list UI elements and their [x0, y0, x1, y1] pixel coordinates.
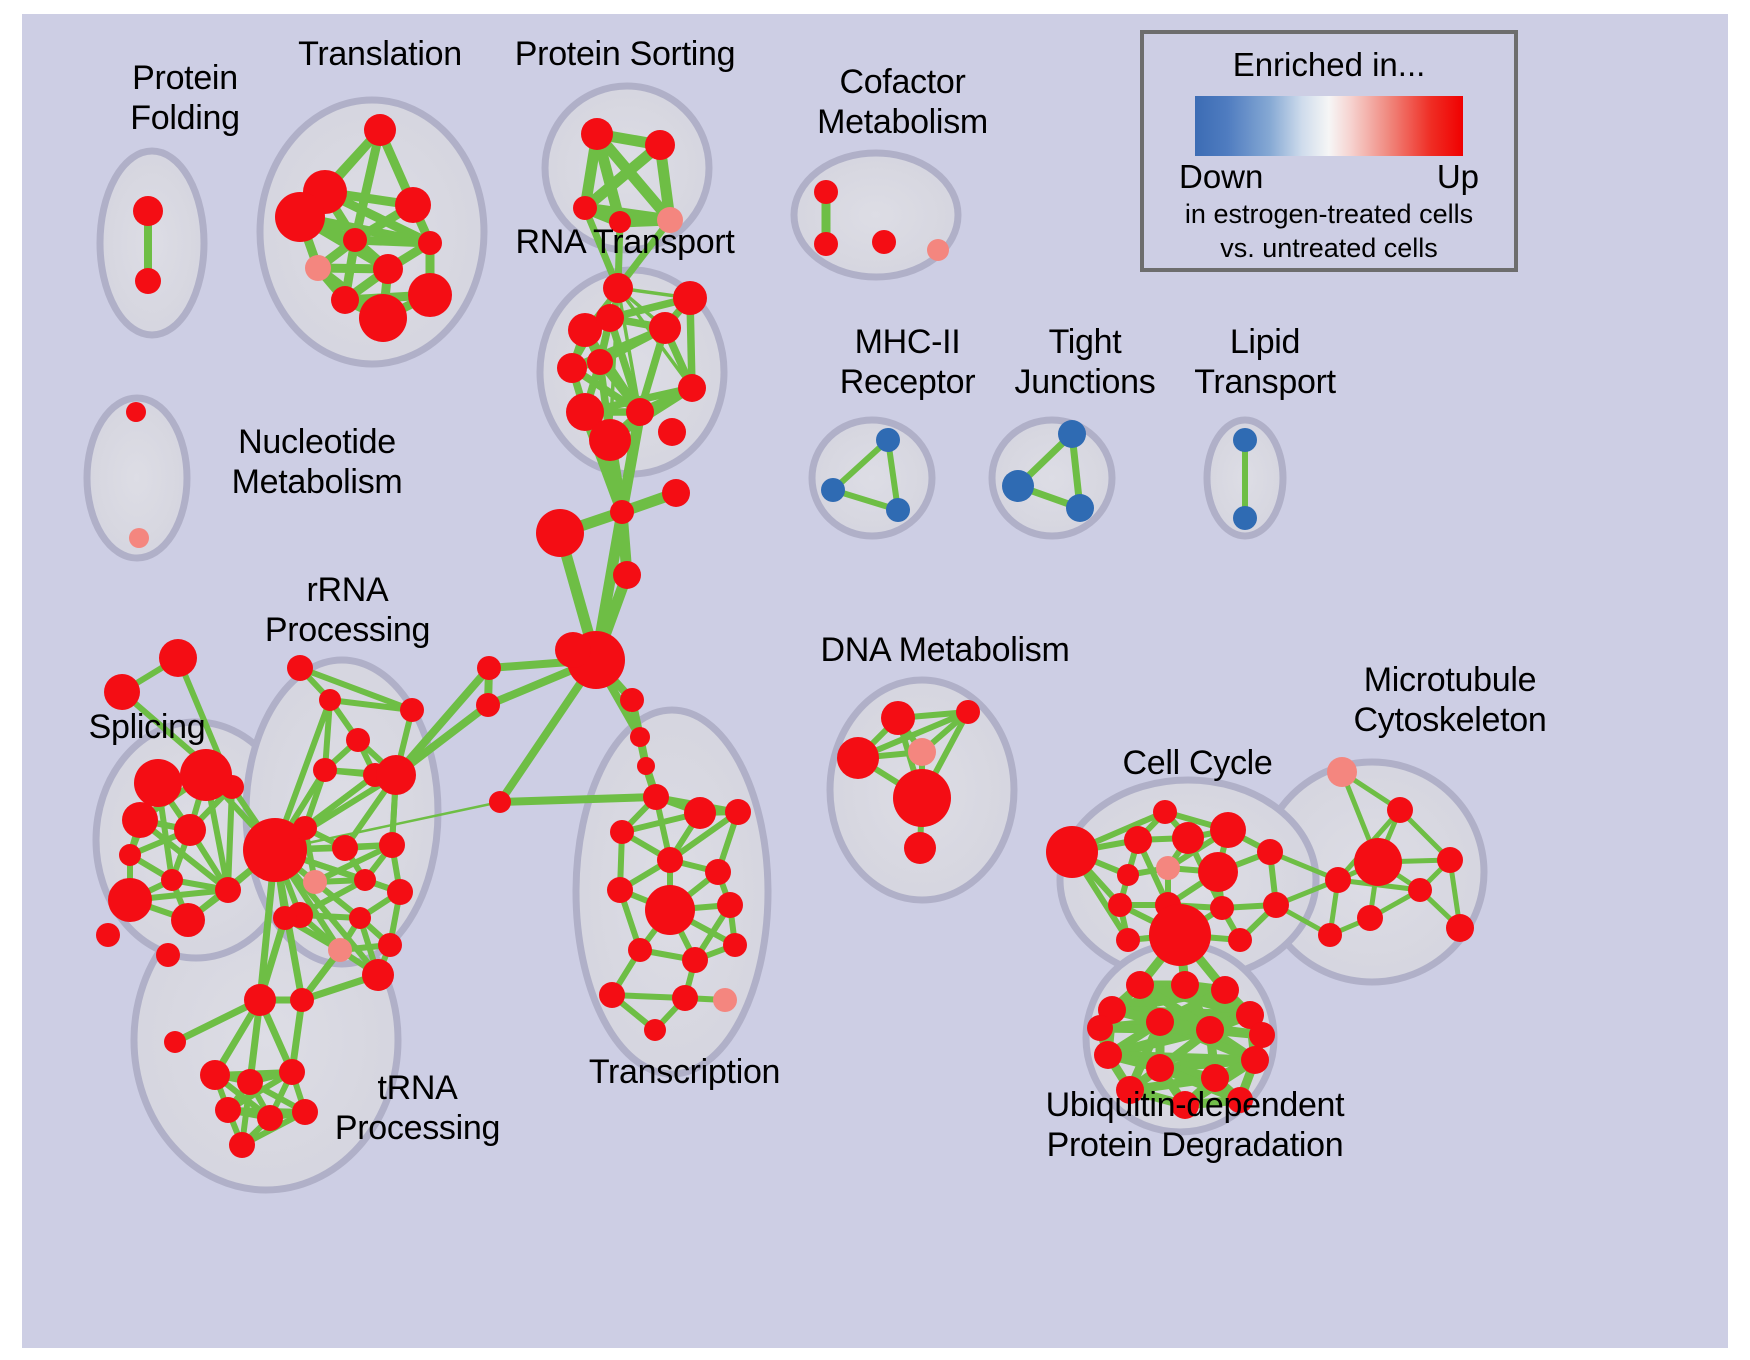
node	[373, 254, 403, 284]
node	[613, 561, 641, 589]
node	[279, 1059, 305, 1085]
node	[104, 674, 140, 710]
node	[1446, 914, 1474, 942]
node	[1357, 905, 1383, 931]
node	[1249, 1022, 1275, 1048]
node	[1233, 506, 1257, 530]
node	[1117, 864, 1139, 886]
legend-color-gradient-bar	[1195, 96, 1463, 156]
node	[1263, 892, 1289, 918]
node	[273, 906, 297, 930]
node	[418, 231, 442, 255]
node	[200, 1060, 230, 1090]
node	[610, 500, 634, 524]
node	[1094, 1041, 1122, 1069]
node	[215, 1097, 241, 1123]
node	[1210, 896, 1234, 920]
node	[581, 118, 613, 150]
node	[275, 192, 325, 242]
node	[244, 984, 276, 1016]
node	[645, 130, 675, 160]
node	[171, 903, 205, 937]
node	[609, 211, 631, 233]
node	[1046, 826, 1098, 878]
node	[657, 847, 683, 873]
node	[927, 239, 949, 261]
node	[672, 985, 698, 1011]
legend-subtitle-line1: in estrogen-treated cells	[1144, 198, 1514, 230]
node	[237, 1069, 263, 1095]
node	[713, 988, 737, 1012]
node	[257, 1105, 283, 1131]
node	[379, 832, 405, 858]
node	[1227, 1087, 1253, 1113]
node	[293, 816, 317, 840]
node	[557, 353, 587, 383]
node	[364, 114, 396, 146]
node	[215, 877, 241, 903]
node	[349, 907, 371, 929]
node	[362, 959, 394, 991]
node	[134, 759, 182, 807]
node	[705, 859, 731, 885]
node	[682, 947, 708, 973]
legend-box: Enriched in... Down Up in estrogen-treat…	[1140, 30, 1518, 272]
node	[596, 304, 624, 332]
node	[328, 938, 352, 962]
node	[319, 689, 341, 711]
node	[1002, 470, 1034, 502]
node	[331, 286, 359, 314]
node	[378, 933, 402, 957]
node	[662, 479, 690, 507]
node	[872, 230, 896, 254]
node	[292, 1099, 318, 1125]
node	[303, 870, 327, 894]
node	[1108, 893, 1132, 917]
node	[821, 478, 845, 502]
node	[626, 398, 654, 426]
node	[645, 885, 695, 935]
legend-subtitle-line2: vs. untreated cells	[1144, 232, 1514, 264]
node	[1116, 928, 1140, 952]
legend-high-label: Up	[1437, 158, 1479, 196]
node	[1196, 1016, 1224, 1044]
ellipse-mhc-ii-receptor	[812, 420, 932, 536]
node	[126, 402, 146, 422]
node	[628, 938, 652, 962]
node	[1156, 856, 1180, 880]
node	[161, 869, 183, 891]
node	[400, 698, 424, 722]
node	[1124, 826, 1152, 854]
node	[1171, 1091, 1199, 1119]
node	[814, 180, 838, 204]
node	[180, 749, 232, 801]
node	[159, 639, 197, 677]
node	[1257, 839, 1283, 865]
node	[607, 877, 633, 903]
node	[1126, 971, 1154, 999]
node	[174, 814, 206, 846]
node	[881, 701, 915, 735]
node	[644, 1019, 666, 1041]
node	[643, 784, 669, 810]
node	[1354, 838, 1402, 886]
node	[886, 498, 910, 522]
node	[1408, 878, 1432, 902]
node	[96, 923, 120, 947]
node	[536, 509, 584, 557]
node	[684, 797, 716, 829]
node	[1228, 928, 1252, 952]
node	[649, 312, 681, 344]
node	[1325, 867, 1351, 893]
legend-title: Enriched in...	[1144, 46, 1514, 84]
node	[603, 273, 633, 303]
node	[387, 879, 413, 905]
node	[343, 228, 367, 252]
node	[657, 207, 683, 233]
node	[313, 758, 337, 782]
node	[1058, 420, 1086, 448]
node	[637, 757, 655, 775]
node	[1146, 1054, 1174, 1082]
node	[1149, 904, 1211, 966]
node	[476, 693, 500, 717]
node	[1116, 1076, 1144, 1104]
node	[1327, 757, 1357, 787]
node	[620, 688, 644, 712]
node	[1210, 812, 1246, 848]
node	[133, 196, 163, 226]
node	[290, 988, 314, 1012]
node	[673, 281, 707, 315]
node	[956, 700, 980, 724]
node	[599, 982, 625, 1008]
node	[395, 187, 431, 223]
node	[1146, 1008, 1174, 1036]
node	[876, 428, 900, 452]
node	[477, 656, 501, 680]
node	[156, 943, 180, 967]
node	[135, 268, 161, 294]
node	[129, 528, 149, 548]
node	[122, 802, 158, 838]
node	[610, 820, 634, 844]
node	[837, 737, 879, 779]
node	[1066, 494, 1094, 522]
node	[678, 374, 706, 402]
node	[332, 835, 358, 861]
node	[555, 632, 591, 668]
node	[1233, 428, 1257, 452]
node	[287, 655, 313, 681]
node	[1437, 847, 1463, 873]
node	[630, 727, 650, 747]
node	[359, 294, 407, 342]
node	[587, 349, 613, 375]
node	[908, 738, 936, 766]
node	[1211, 976, 1239, 1004]
node	[658, 418, 686, 446]
node	[589, 419, 631, 461]
node	[305, 255, 331, 281]
node	[489, 791, 511, 813]
node	[725, 799, 751, 825]
figure-canvas: Protein Folding Translation Protein Sort…	[0, 0, 1750, 1360]
node	[346, 728, 370, 752]
legend-low-label: Down	[1179, 158, 1263, 196]
node	[119, 844, 141, 866]
node	[164, 1031, 186, 1053]
node	[717, 892, 743, 918]
node	[1318, 923, 1342, 947]
node	[1087, 1015, 1113, 1041]
node	[354, 869, 376, 891]
node	[1172, 822, 1204, 854]
node	[408, 273, 452, 317]
node	[229, 1132, 255, 1158]
node	[1241, 1046, 1269, 1074]
node	[108, 878, 152, 922]
node	[1171, 971, 1199, 999]
node	[1153, 800, 1177, 824]
node	[814, 232, 838, 256]
node	[1198, 852, 1238, 892]
node	[723, 933, 747, 957]
node	[893, 769, 951, 827]
node	[1201, 1064, 1229, 1092]
node	[573, 196, 597, 220]
node	[1387, 797, 1413, 823]
node	[904, 832, 936, 864]
node	[376, 755, 416, 795]
